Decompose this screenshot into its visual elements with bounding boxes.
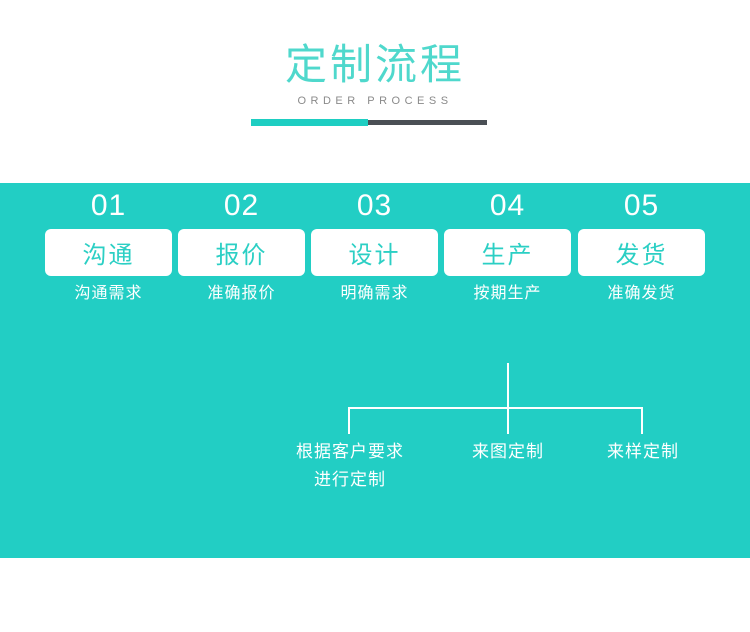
sub-item-line2: 进行定制 [272, 466, 428, 494]
step-number: 02 [178, 183, 305, 229]
step-box[interactable]: 设计 [311, 229, 438, 276]
footer-spacer [0, 558, 750, 632]
step-number: 01 [45, 183, 172, 229]
step-caption: 准确发货 [578, 283, 705, 304]
sub-item-line1: 来样定制 [583, 438, 703, 466]
sub-item-2: 来图定制 [448, 438, 568, 466]
step-number: 05 [578, 183, 705, 229]
connector-stub-right [641, 407, 643, 434]
connector-stub-middle [507, 407, 509, 434]
step-caption: 按期生产 [444, 283, 571, 304]
process-step-04: 04 生产 按期生产 [444, 183, 571, 304]
step-box-label: 生产 [482, 235, 534, 270]
connector-stub-left [348, 407, 350, 434]
connector-line-up [507, 363, 509, 408]
step-caption: 明确需求 [311, 283, 438, 304]
step-box-label: 沟通 [83, 235, 135, 270]
divider-segment-dark [368, 120, 487, 125]
sub-item-3: 来样定制 [583, 438, 703, 466]
divider-segment-teal [251, 119, 368, 126]
process-step-05: 05 发货 准确发货 [578, 183, 705, 304]
sub-item-1: 根据客户要求 进行定制 [272, 438, 428, 494]
step-box-label: 报价 [216, 235, 268, 270]
page-subtitle: ORDER PROCESS [0, 94, 750, 108]
sub-items: 根据客户要求 进行定制 来图定制 来样定制 [0, 438, 750, 518]
step-number: 04 [444, 183, 571, 229]
header-section: 定制流程 ORDER PROCESS [0, 0, 750, 183]
step-box[interactable]: 发货 [578, 229, 705, 276]
process-steps: 01 沟通 沟通需求 02 报价 准确报价 03 设计 明确需求 [45, 183, 705, 363]
step-box-label: 设计 [349, 235, 401, 270]
process-step-01: 01 沟通 沟通需求 [45, 183, 172, 304]
sub-item-line1: 根据客户要求 [272, 438, 428, 466]
step-caption: 准确报价 [178, 283, 305, 304]
process-panel: 01 沟通 沟通需求 02 报价 准确报价 03 设计 明确需求 [0, 183, 750, 558]
connector-line-horizontal [348, 407, 643, 409]
step-box-label: 发货 [616, 235, 668, 270]
sub-item-line1: 来图定制 [448, 438, 568, 466]
step-box[interactable]: 生产 [444, 229, 571, 276]
page-title: 定制流程 [0, 40, 750, 90]
step-box[interactable]: 报价 [178, 229, 305, 276]
step-box[interactable]: 沟通 [45, 229, 172, 276]
step-number: 03 [311, 183, 438, 229]
process-step-03: 03 设计 明确需求 [311, 183, 438, 304]
title-divider [251, 119, 487, 127]
order-process-banner: 定制流程 ORDER PROCESS 01 沟通 沟通需求 02 报价 准确报价 [0, 0, 750, 632]
process-step-02: 02 报价 准确报价 [178, 183, 305, 304]
step-caption: 沟通需求 [45, 283, 172, 304]
